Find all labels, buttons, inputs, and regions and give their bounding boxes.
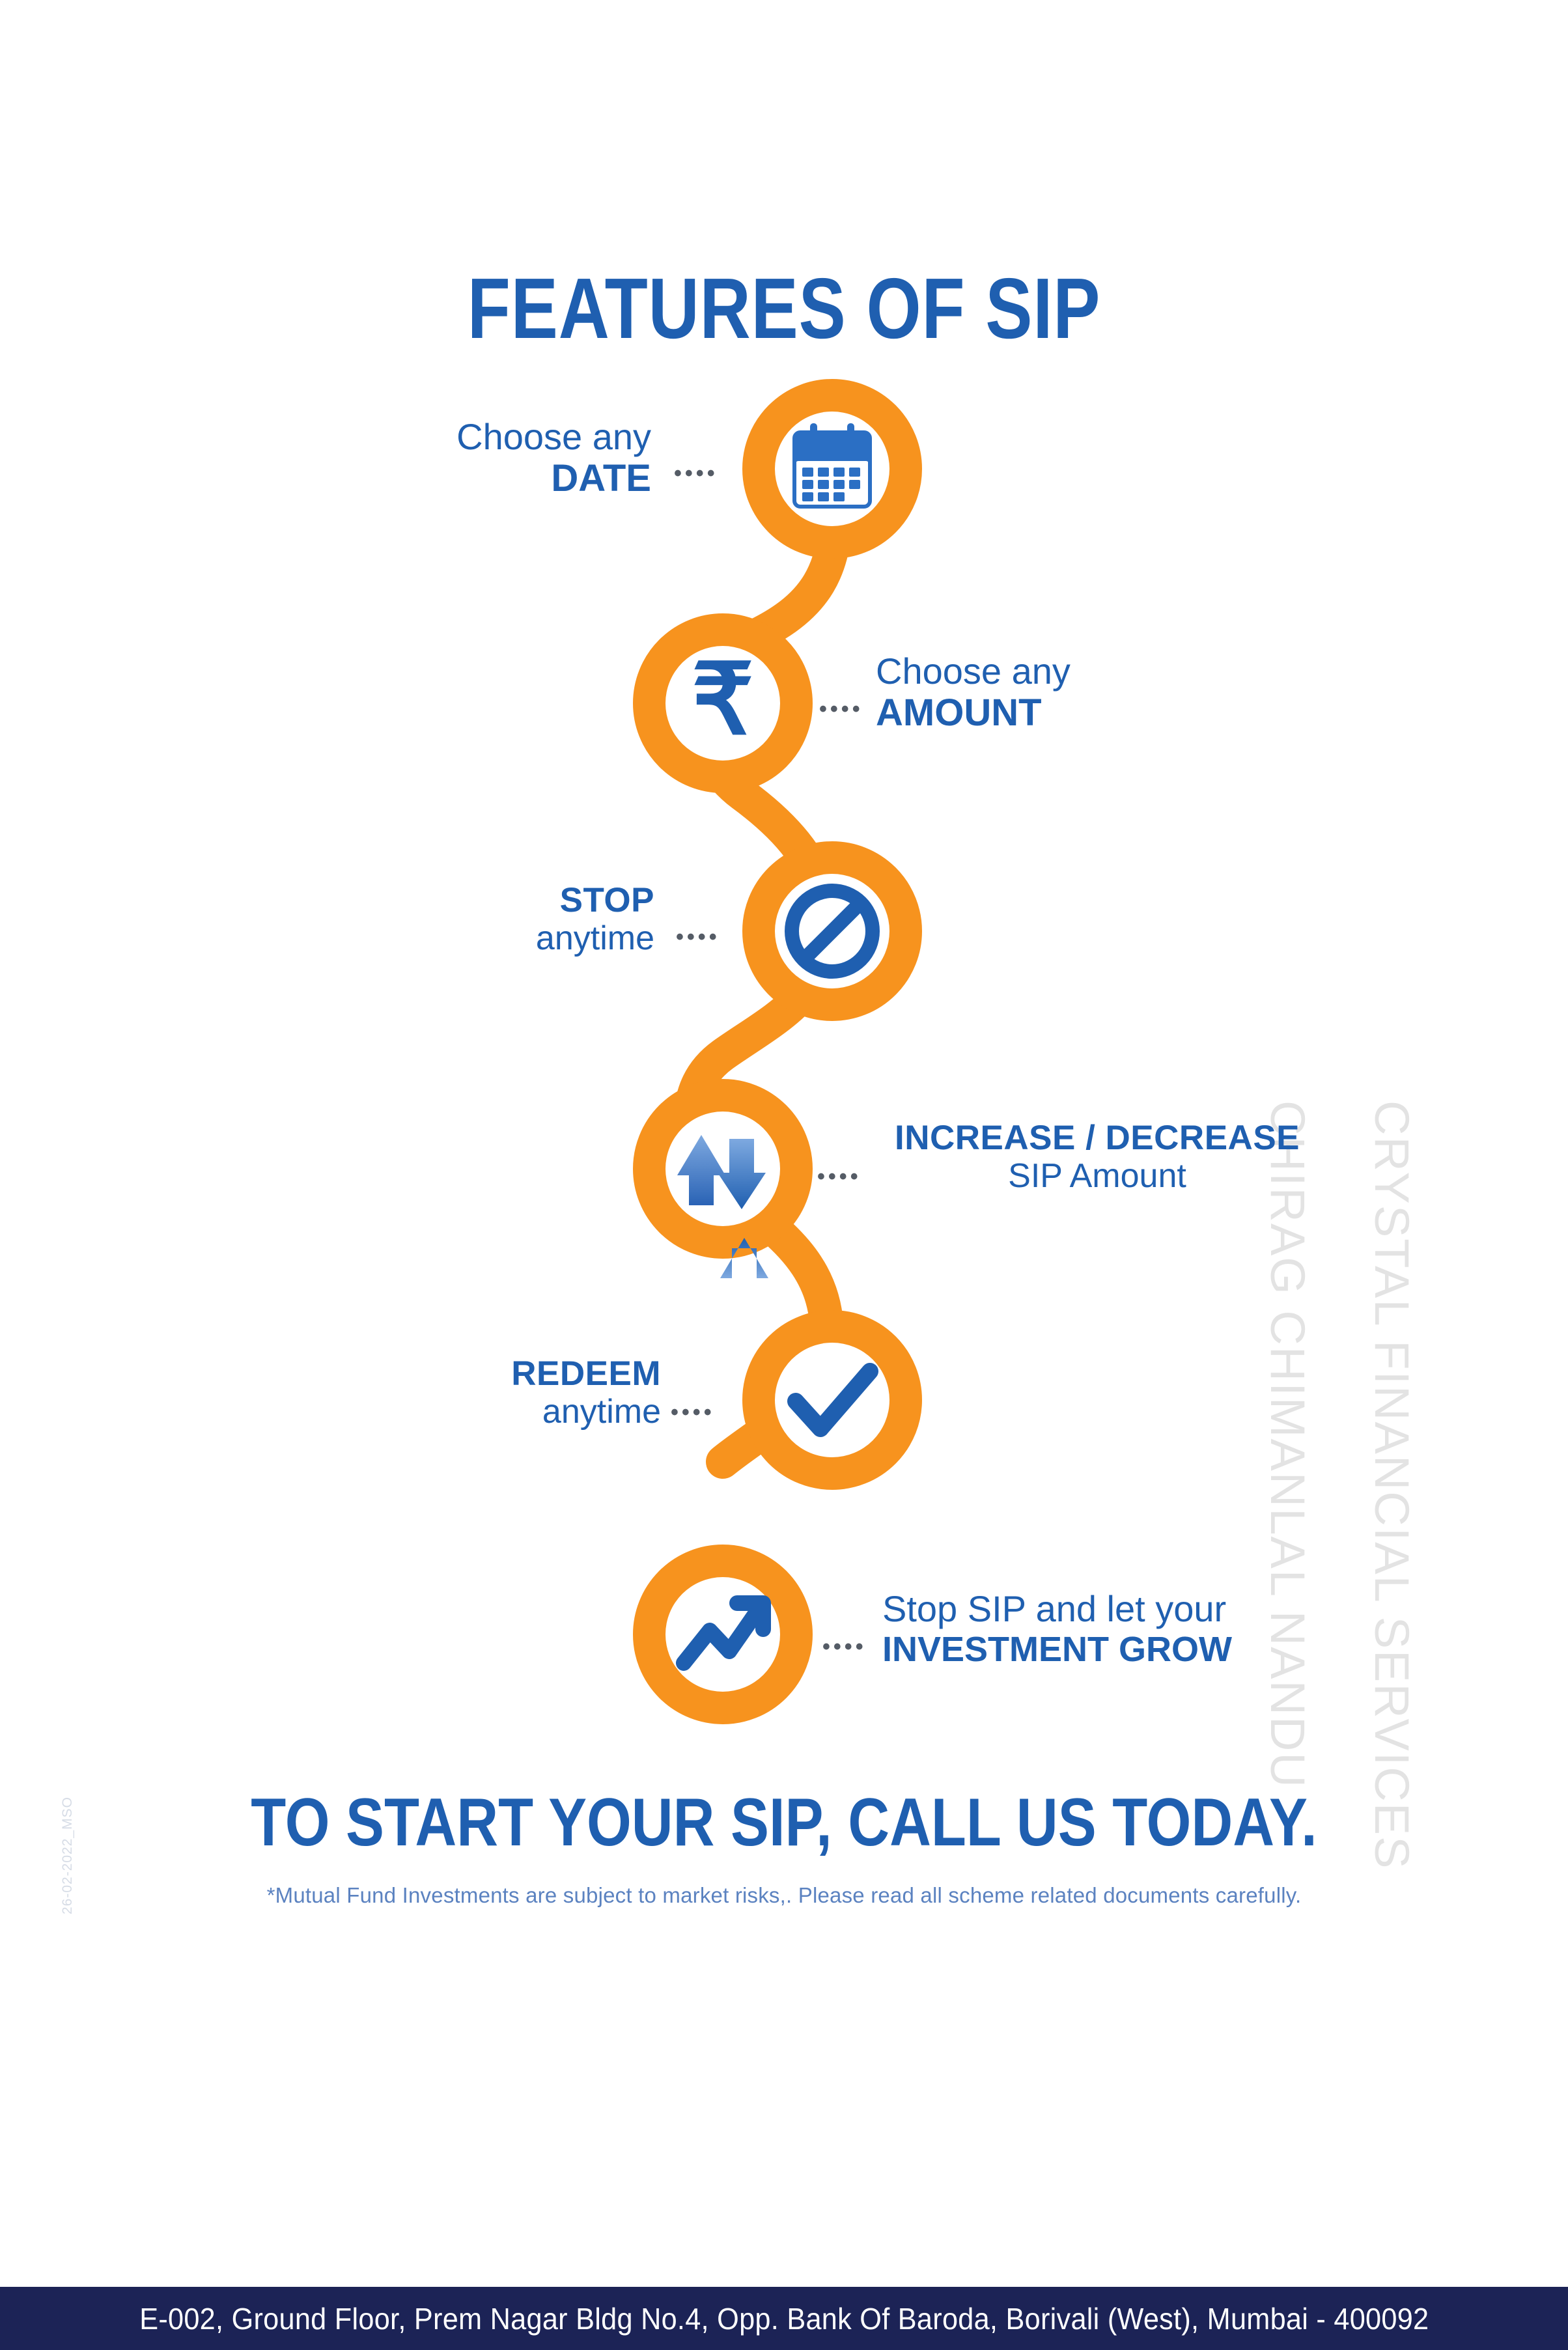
feature-line1: REDEEM <box>479 1354 661 1393</box>
calendar-icon <box>794 423 870 507</box>
feature-line2: DATE <box>456 458 651 500</box>
call-to-action-heading: TO START YOUR SIP, CALL US TODAY. <box>118 1784 1451 1862</box>
svg-text:₹: ₹ <box>692 645 753 754</box>
connector-dots-2: •••• <box>819 698 863 720</box>
feature-label-redeem-anytime: REDEEM anytime <box>479 1354 661 1431</box>
disclaimer-text: *Mutual Fund Investments are subject to … <box>0 1883 1568 1908</box>
feature-line1: INCREASE / DECREASE <box>869 1119 1325 1157</box>
footer: CRYSTAL FINACIAL SERVICES CLEAR IDEAS FO… <box>0 1979 1568 2279</box>
connector-dots-6: •••• <box>822 1636 867 1658</box>
rupee-icon: ₹ <box>692 645 753 754</box>
feature-line1: STOP <box>482 881 654 919</box>
feature-line1: Stop SIP and let your <box>882 1589 1338 1630</box>
feature-label-increase-decrease: INCREASE / DECREASE SIP Amount <box>869 1119 1325 1196</box>
feature-line2: SIP Amount <box>869 1157 1325 1195</box>
feature-line2: anytime <box>482 919 654 957</box>
address-bar: E-002, Ground Floor, Prem Nagar Bldg No.… <box>0 2287 1568 2350</box>
office-address: E-002, Ground Floor, Prem Nagar Bldg No.… <box>139 2301 1429 2336</box>
connector-dots-1: •••• <box>674 462 718 484</box>
feature-line2: INVESTMENT GROW <box>882 1630 1338 1669</box>
feature-label-choose-date: Choose any DATE <box>456 417 651 500</box>
sip-chain-diagram: ₹ <box>0 339 1568 1771</box>
connector-dots-4: •••• <box>817 1166 861 1188</box>
feature-line1: Choose any <box>456 417 651 458</box>
connector-dots-3: •••• <box>676 926 720 948</box>
feature-label-investment-grow: Stop SIP and let your INVESTMENT GROW <box>882 1589 1338 1669</box>
sip-features-poster: CHIRAG CHIMANLAL NANDU CRYSTAL FINANCIAL… <box>0 0 1568 2350</box>
feature-line1: Choose any <box>876 651 1169 692</box>
feature-label-stop-anytime: STOP anytime <box>482 881 654 958</box>
feature-line2: AMOUNT <box>876 692 1169 734</box>
connector-dots-5: •••• <box>671 1401 715 1423</box>
feature-line2: anytime <box>479 1393 661 1431</box>
feature-label-choose-amount: Choose any AMOUNT <box>876 651 1169 734</box>
